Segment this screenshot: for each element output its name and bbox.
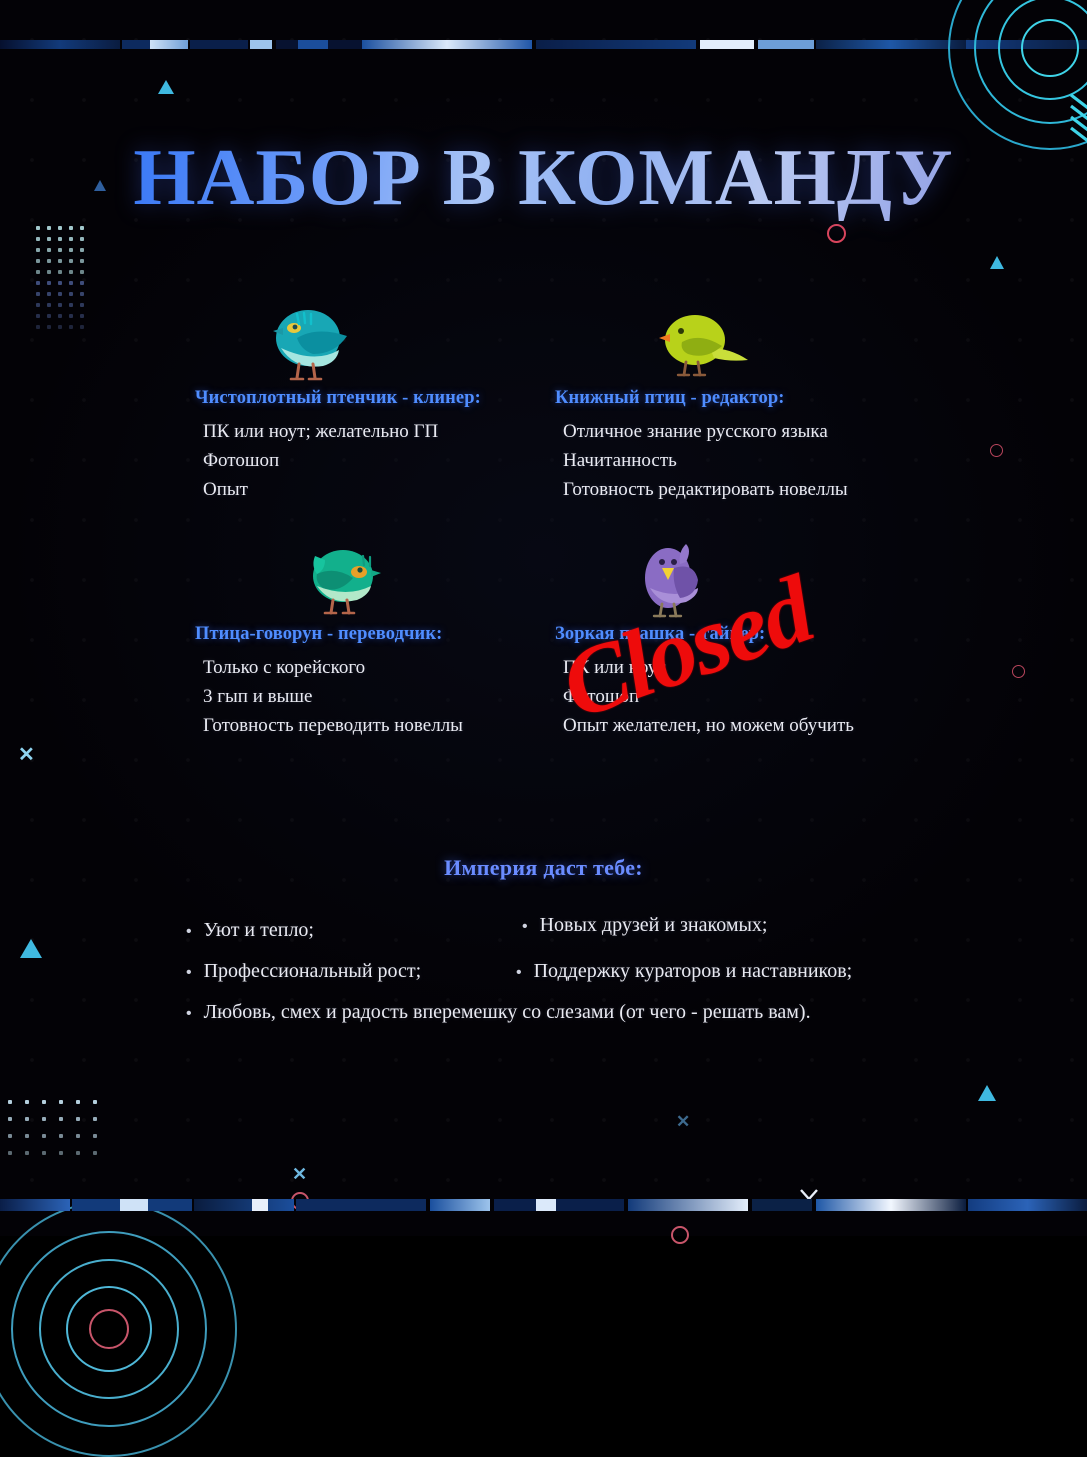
role-item: Фотошоп [203,446,595,475]
grid-dot [69,248,73,252]
grid-dot [42,1100,46,1104]
grid-dot [47,248,51,252]
grid-dot [58,270,62,274]
grid-dot [36,281,40,285]
grid-dot [80,248,84,252]
roles-section: Чистоплотный птенчик - клинер: ПК или но… [0,300,1087,772]
grid-dot [8,1117,12,1121]
bullet-icon: • [516,965,522,981]
benefits-title: Империя даст тебе: [0,855,1087,881]
benefit-item: • Уют и тепло; [186,919,314,942]
grid-dot [47,292,51,296]
x-mark-icon: ✕ [292,1165,307,1183]
grid-dot [76,1151,80,1155]
grid-dot [47,281,51,285]
benefit-text: Новых друзей и знакомых; [540,914,768,937]
grid-dot [36,248,40,252]
triangle-icon [990,256,1004,269]
bullet-icon: • [186,1006,192,1022]
grid-dot [76,1117,80,1121]
grid-dot [69,237,73,241]
chevron-down-icon-small [800,1188,818,1206]
grid-dot [25,1100,29,1104]
page-title: НАБОР В КОМАНДУ [0,133,1087,224]
grid-dot [80,237,84,241]
grid-dot [25,1134,29,1138]
grid-dot [76,1100,80,1104]
grid-dot [8,1134,12,1138]
benefit-item: • Профессиональный рост; [186,960,421,983]
grid-dot [59,1117,63,1121]
grid-dot [59,1134,63,1138]
bullet-icon: • [186,965,192,981]
role-item: Начитанность [563,446,955,475]
grid-dot [58,292,62,296]
circle-outline-icon [291,1192,309,1210]
role-item-list: ПК или ноут; желательно ГП Фотошоп Опыт [195,417,595,504]
grid-dot [36,292,40,296]
grid-dot [69,281,73,285]
benefits-list: • Уют и тепло; • Новых друзей и знакомых… [0,919,1087,1039]
bullet-icon: • [186,924,192,940]
green-bird-icon [195,536,595,622]
role-item: Только с корейского [203,653,595,682]
grid-dot [47,237,51,241]
grid-dot [80,292,84,296]
role-item: ПК или ноут; желательно ГП [203,417,595,446]
role-block-cleaner: Чистоплотный птенчик - клинер: ПК или но… [195,300,595,504]
grid-dot [76,1134,80,1138]
grid-dot [25,1117,29,1121]
grid-dot [58,259,62,263]
benefit-item: • Поддержку кураторов и наставников; [516,960,852,983]
benefit-text: Профессиональный рост; [204,960,422,983]
teal-bird-icon [195,300,595,386]
grid-dot [69,259,73,263]
grid-dot [58,237,62,241]
grid-dot [80,226,84,230]
benefits-section: Империя даст тебе: • Уют и тепло; • Новы… [0,855,1087,1039]
grid-dot [42,1151,46,1155]
role-item: 3 гып и выше [203,682,595,711]
role-title: Чистоплотный птенчик - клинер: [195,388,595,409]
grid-dot [8,1100,12,1104]
grid-dot [59,1100,63,1104]
grid-dot [42,1117,46,1121]
role-item: Готовность редактировать новеллы [563,475,955,504]
role-block-editor: Книжный птиц - редактор: Отличное знание… [555,300,955,504]
grid-dot [69,226,73,230]
role-item: Готовность переводить новеллы [203,711,595,740]
benefit-text: Любовь, смех и радость вперемешку со сле… [204,1001,811,1024]
dot-grid-bottom-left [8,1100,104,1158]
role-item-list: Отличное знание русского языка Начитанно… [555,417,955,504]
concentric-rings-bottom-left [0,1214,224,1444]
bottom-glitch-band [0,1199,1087,1211]
grid-dot [80,270,84,274]
grid-dot [93,1134,97,1138]
grid-dot [47,259,51,263]
bullet-icon: • [522,919,528,935]
grid-dot [69,292,73,296]
grid-dot [93,1117,97,1121]
top-glitch-band [0,40,1087,49]
role-item: Опыт [203,475,595,504]
grid-dot [36,226,40,230]
lime-bird-icon [555,300,955,386]
grid-dot [58,226,62,230]
role-item: Отличное знание русского языка [563,417,955,446]
roles-row-2: Птица-говорун - переводчик: Только с кор… [0,536,1087,772]
grid-dot [36,270,40,274]
grid-dot [58,281,62,285]
grid-dot [93,1100,97,1104]
role-title: Птица-говорун - переводчик: [195,624,595,645]
role-block-translator: Птица-говорун - переводчик: Только с кор… [195,536,595,740]
roles-row-1: Чистоплотный птенчик - клинер: ПК или но… [0,300,1087,536]
benefit-item: • Новых друзей и знакомых; [522,914,767,937]
grid-dot [36,259,40,263]
grid-dot [36,237,40,241]
benefit-item: • Любовь, смех и радость вперемешку со с… [186,1001,811,1024]
grid-dot [69,270,73,274]
grid-dot [47,226,51,230]
circle-outline-icon [671,1226,689,1244]
grid-dot [8,1151,12,1155]
grid-dot [42,1134,46,1138]
benefit-text: Уют и тепло; [204,919,314,942]
grid-dot [25,1151,29,1155]
triangle-icon [978,1085,996,1101]
role-item-list: Только с корейского 3 гып и выше Готовно… [195,653,595,740]
benefit-text: Поддержку кураторов и наставников; [534,960,853,983]
grid-dot [47,270,51,274]
grid-dot [80,259,84,263]
x-mark-icon: ✕ [676,1113,690,1130]
circle-outline-icon [827,224,846,243]
role-title: Книжный птиц - редактор: [555,388,955,409]
grid-dot [93,1151,97,1155]
grid-dot [58,248,62,252]
triangle-icon [158,80,174,94]
grid-dot [59,1151,63,1155]
grid-dot [80,281,84,285]
